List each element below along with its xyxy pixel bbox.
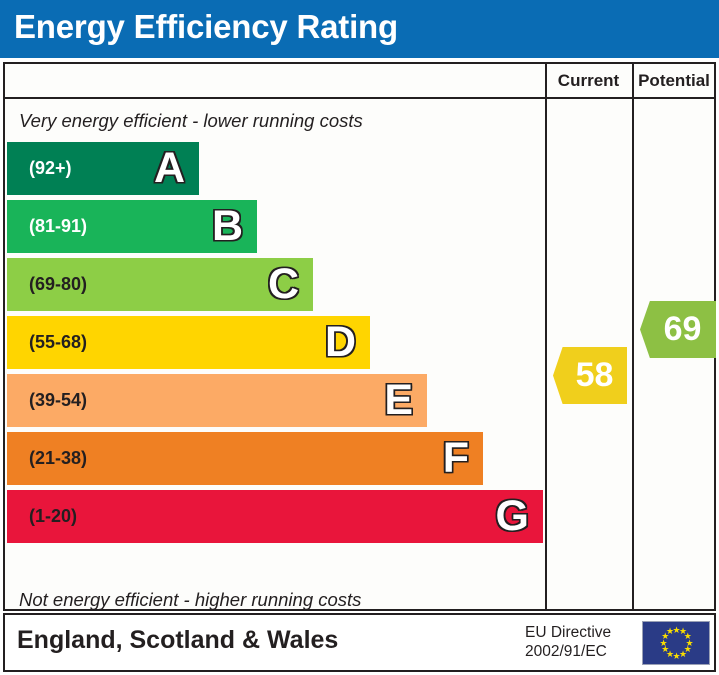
eu-flag-icon: ★★★★★★★★★★★★ [642,621,710,665]
band-letter-label: B [212,200,243,253]
column-header-potential: Potential [632,64,716,97]
band-range-label: (55-68) [29,316,87,369]
rating-band-b: (81-91)B [7,200,257,253]
rating-band-f: (21-38)F [7,432,483,485]
band-letter-label: F [443,432,469,485]
rating-band-g: (1-20)G [7,490,543,543]
rating-band-d: (55-68)D [7,316,370,369]
page-title: Energy Efficiency Rating [14,8,398,46]
band-range-label: (92+) [29,142,72,195]
band-letter-label: C [268,258,299,311]
band-range-label: (39-54) [29,374,87,427]
rating-marker-potential: 69 [640,301,716,358]
footer-directive: EU Directive 2002/91/EC [525,623,635,661]
rating-bands: (92+)A(81-91)B(69-80)C(55-68)D(39-54)E(2… [5,64,543,609]
column-header-current: Current [545,64,632,97]
energy-efficiency-rating-chart: Energy Efficiency Rating Current Potenti… [0,0,719,675]
band-range-label: (81-91) [29,200,87,253]
column-divider-current [545,64,547,609]
rating-marker-value: 69 [640,301,716,358]
band-range-label: (1-20) [29,490,77,543]
title-bar: Energy Efficiency Rating [0,0,719,58]
rating-band-c: (69-80)C [7,258,313,311]
footer-region-label: England, Scotland & Wales [17,626,338,655]
directive-line-2: 2002/91/EC [525,642,635,661]
footer: England, Scotland & Wales EU Directive 2… [3,613,716,672]
band-letter-label: A [154,142,185,195]
rating-marker-value: 58 [553,347,627,404]
rating-band-a: (92+)A [7,142,199,195]
column-divider-potential [632,64,634,609]
eu-star-icon: ★ [666,628,673,635]
rating-band-e: (39-54)E [7,374,427,427]
directive-line-1: EU Directive [525,623,635,642]
band-letter-label: D [325,316,356,369]
rating-marker-current: 58 [553,347,627,404]
band-letter-label: E [384,374,413,427]
band-letter-label: G [496,490,529,543]
band-range-label: (21-38) [29,432,87,485]
band-range-label: (69-80) [29,258,87,311]
rating-table: Current Potential Very energy efficient … [3,62,716,611]
